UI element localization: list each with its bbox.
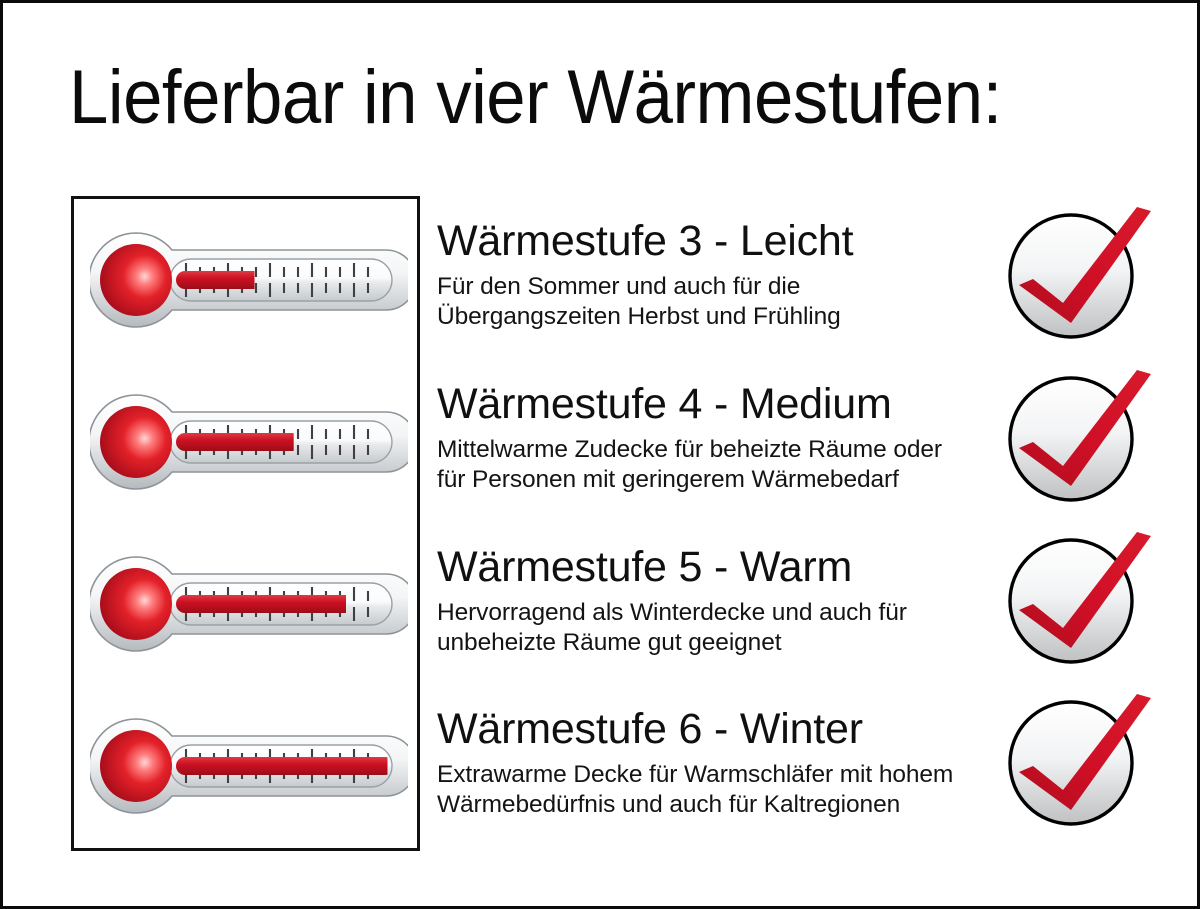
- level-row-waermestufe-6: Wärmestufe 6 - Winter Extrawarme Decke f…: [437, 704, 997, 820]
- thermometer-waermestufe-4: [90, 389, 408, 495]
- level-row-waermestufe-4: Wärmestufe 4 - Medium Mittelwarme Zudeck…: [437, 379, 997, 495]
- level-description-waermestufe-3: Für den Sommer und auch für die Übergang…: [437, 272, 997, 332]
- level-description-waermestufe-6: Extrawarme Decke für Warmschläfer mit ho…: [437, 760, 997, 820]
- thermometer-waermestufe-5: [90, 551, 408, 657]
- level-description-line: Hervorragend als Winterdecke und auch fü…: [437, 598, 997, 628]
- level-description-waermestufe-5: Hervorragend als Winterdecke und auch fü…: [437, 598, 997, 658]
- page-title: Lieferbar in vier Wärmestufen:: [69, 55, 1002, 141]
- level-row-waermestufe-5: Wärmestufe 5 - Warm Hervorragend als Win…: [437, 542, 997, 658]
- check-badge-waermestufe-3: [1005, 199, 1163, 349]
- level-description-line: Für den Sommer und auch für die: [437, 272, 997, 302]
- thermometer-panel: [71, 196, 420, 851]
- level-title-waermestufe-5: Wärmestufe 5 - Warm: [437, 542, 997, 592]
- check-badge-waermestufe-6: [1005, 686, 1163, 836]
- infographic-page: Lieferbar in vier Wärmestufen:: [0, 0, 1200, 909]
- level-description-line: unbeheizte Räume gut geeignet: [437, 628, 997, 658]
- level-description-line: Extrawarme Decke für Warmschläfer mit ho…: [437, 760, 997, 790]
- level-description-waermestufe-4: Mittelwarme Zudecke für beheizte Räume o…: [437, 435, 997, 495]
- check-badge-waermestufe-5: [1005, 524, 1163, 674]
- level-description-line: Wärmebedürfnis und auch für Kaltregionen: [437, 790, 997, 820]
- level-description-line: für Personen mit geringerem Wärmebedarf: [437, 465, 997, 495]
- thermometer-waermestufe-3: [90, 227, 408, 333]
- level-row-waermestufe-3: Wärmestufe 3 - Leicht Für den Sommer und…: [437, 216, 997, 332]
- level-title-waermestufe-4: Wärmestufe 4 - Medium: [437, 379, 997, 429]
- check-badge-waermestufe-4: [1005, 362, 1163, 512]
- level-description-line: Mittelwarme Zudecke für beheizte Räume o…: [437, 435, 997, 465]
- level-title-waermestufe-6: Wärmestufe 6 - Winter: [437, 704, 997, 754]
- level-description-line: Übergangszeiten Herbst und Frühling: [437, 302, 997, 332]
- thermometer-waermestufe-6: [90, 713, 408, 819]
- level-title-waermestufe-3: Wärmestufe 3 - Leicht: [437, 216, 997, 266]
